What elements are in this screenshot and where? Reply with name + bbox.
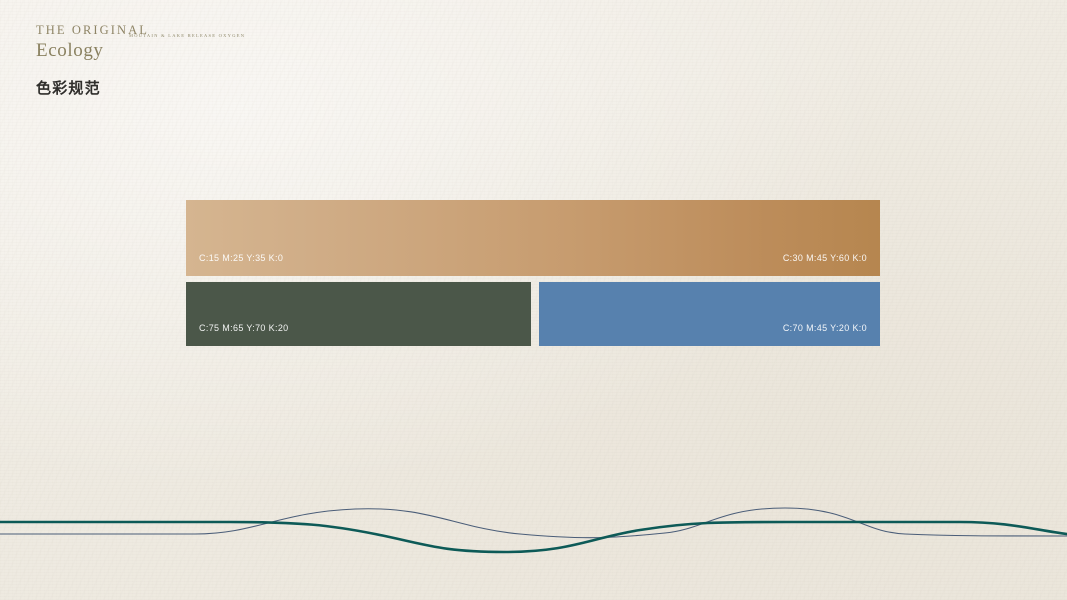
wave-decoration [0, 490, 1067, 600]
color-swatch-tan[interactable]: C:15 M:25 Y:35 K:0 C:30 M:45 Y:60 K:0 [186, 200, 880, 276]
slide-header: THE ORIGINAL Ecology MOUTAIN & LAKE RELE… [36, 24, 456, 98]
logo-tagline: MOUTAIN & LAKE RELEASE OXYGEN [129, 33, 245, 38]
swatch-label-tan-end: C:30 M:45 Y:60 K:0 [783, 253, 880, 276]
color-swatch-blue[interactable]: C:70 M:45 Y:20 K:0 [539, 282, 880, 346]
slide-canvas: THE ORIGINAL Ecology MOUTAIN & LAKE RELE… [0, 0, 1067, 600]
swatch-label-blue: C:70 M:45 Y:20 K:0 [783, 323, 880, 346]
swatch-label-green: C:75 M:65 Y:70 K:20 [186, 323, 289, 346]
logo-line-primary: THE ORIGINAL [36, 24, 456, 38]
logo-line-secondary: Ecology [36, 39, 456, 63]
swatch-label-tan-start: C:15 M:25 Y:35 K:0 [186, 253, 283, 276]
wave-line-secondary [0, 508, 1067, 538]
color-palette: C:15 M:25 Y:35 K:0 C:30 M:45 Y:60 K:0 C:… [186, 200, 880, 346]
brand-logo: THE ORIGINAL Ecology MOUTAIN & LAKE RELE… [36, 24, 456, 63]
wave-line-primary [0, 522, 1067, 552]
color-swatch-green[interactable]: C:75 M:65 Y:70 K:20 [186, 282, 531, 346]
page-title: 色彩规范 [36, 77, 456, 98]
